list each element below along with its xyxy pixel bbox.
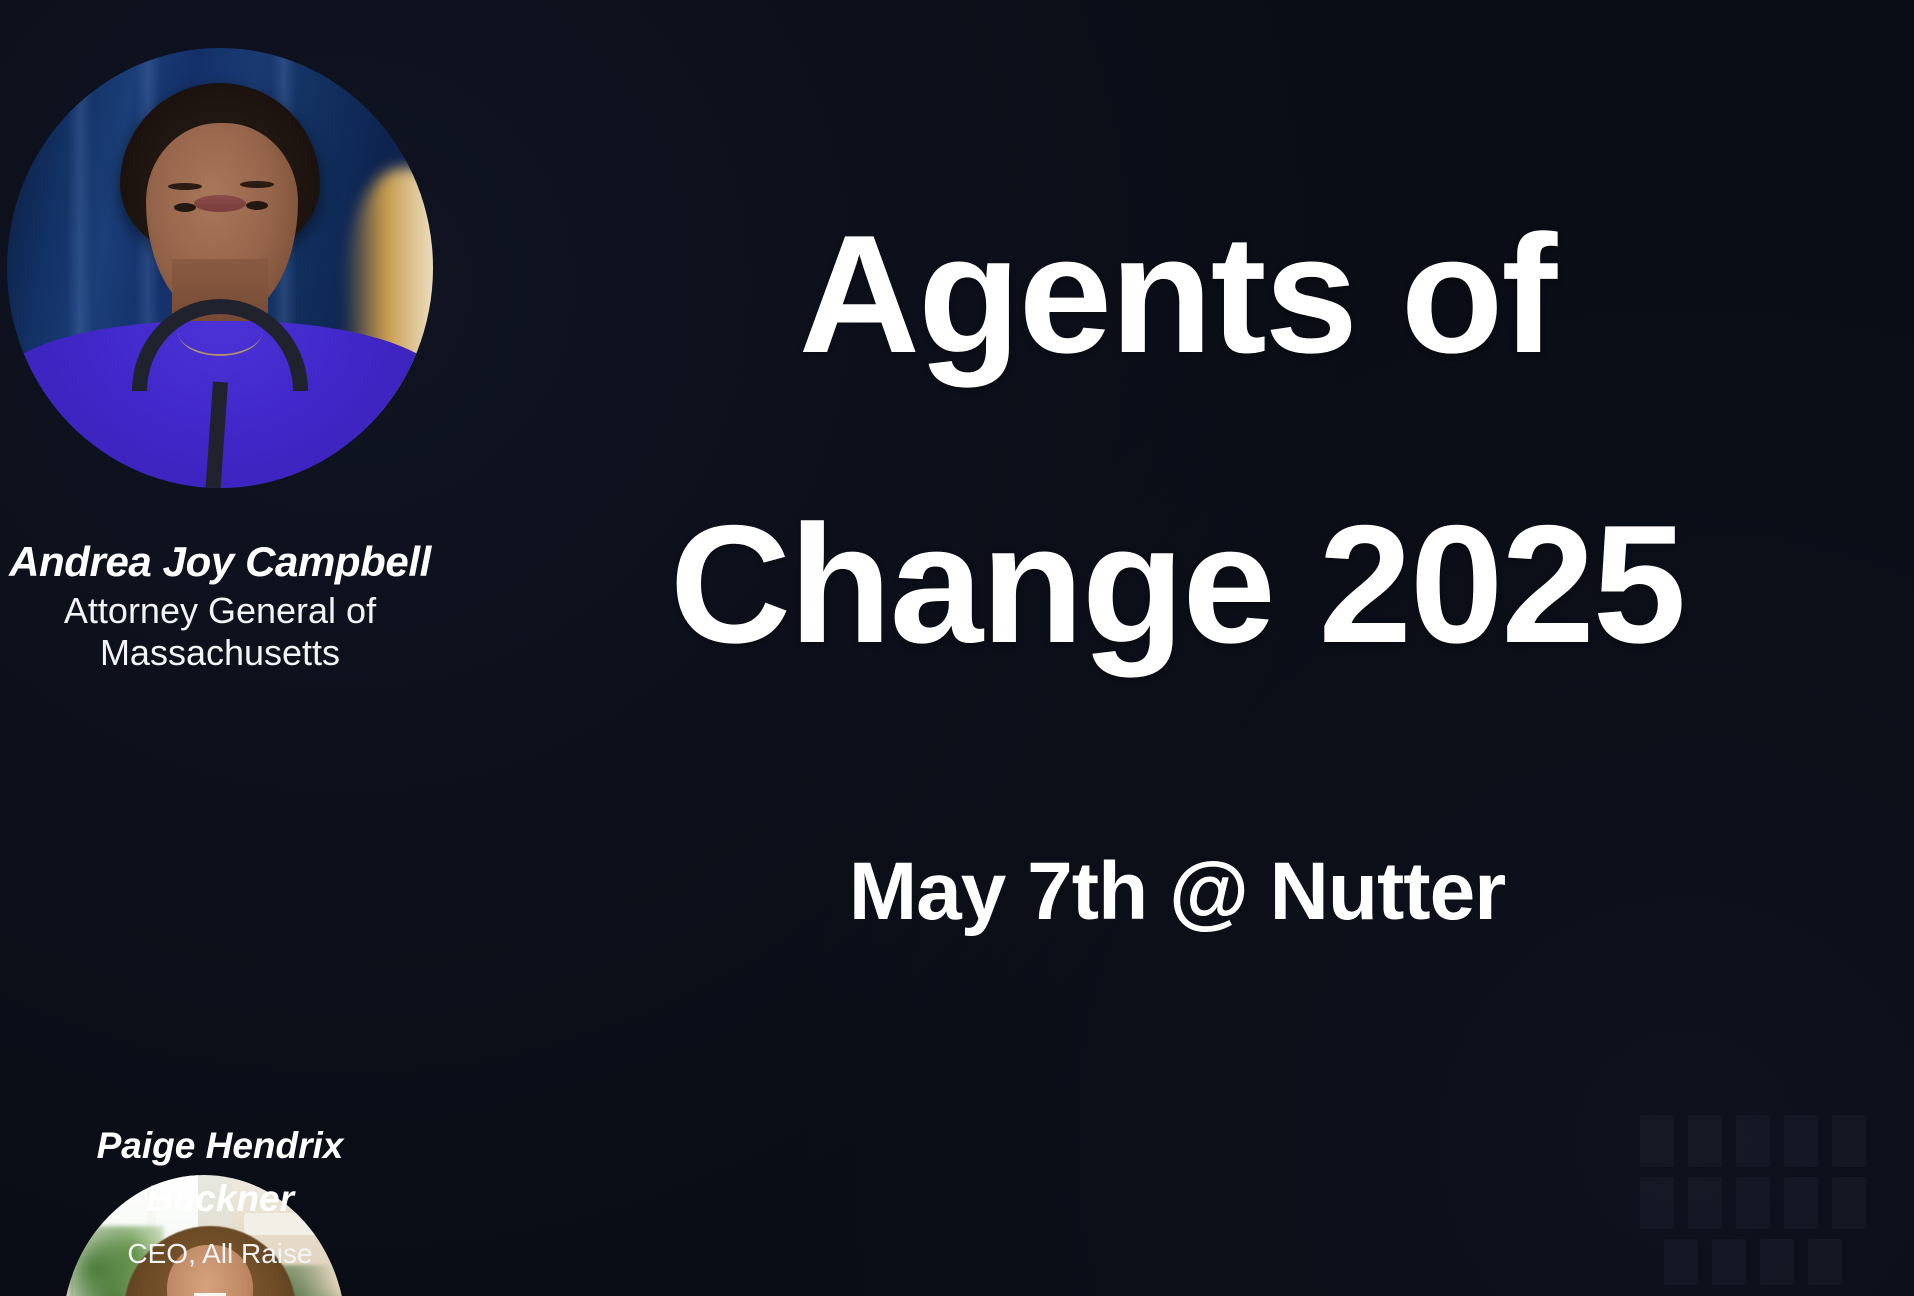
speaker-1-title: Attorney General of Massachusetts <box>0 590 440 674</box>
speaker-column: Andrea Joy Campbell Attorney General of … <box>0 0 440 1296</box>
event-promo-slide: Andrea Joy Campbell Attorney General of … <box>0 0 1914 1296</box>
eye <box>246 201 268 210</box>
eyebrow <box>168 183 202 190</box>
speaker-2-title: CEO, All Raise <box>0 1238 440 1270</box>
speaker-1-name: Andrea Joy Campbell <box>0 538 440 586</box>
speaker-2-name: Paige Hendrix Buckner <box>0 1120 440 1225</box>
eyebrow <box>240 181 274 188</box>
necklace <box>178 308 262 356</box>
hero-block: Agents of Change 2025 May 7th @ Nutter <box>440 0 1914 1296</box>
event-title-line-1: Agents of <box>440 210 1914 378</box>
speaker-portrait-andrea-joy-campbell <box>7 48 433 488</box>
event-title-line-2: Change 2025 <box>440 500 1914 668</box>
eye <box>174 203 196 212</box>
event-date-venue: May 7th @ Nutter <box>440 845 1914 939</box>
